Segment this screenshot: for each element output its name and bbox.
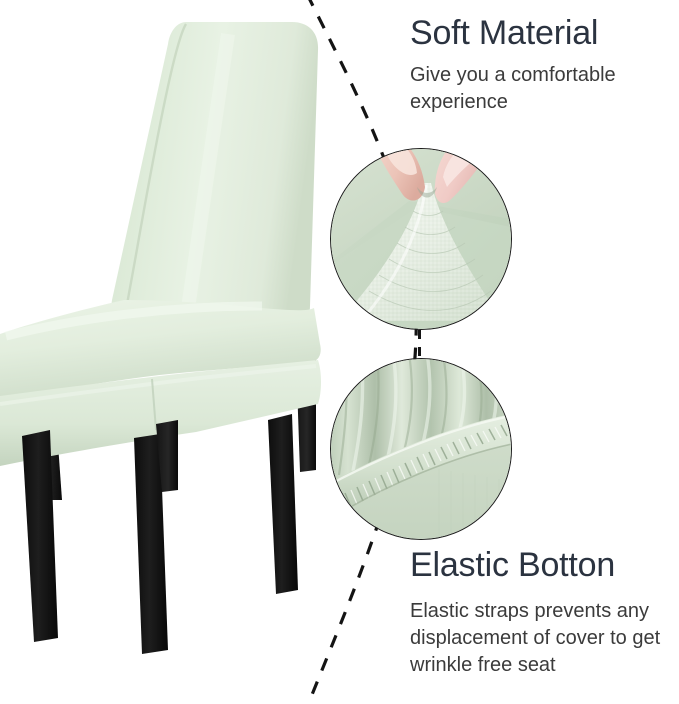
feature-body-soft-material: Give you a comfortable experience — [410, 62, 678, 116]
feature-body-elastic-bottom: Elastic straps prevents any displacement… — [410, 598, 678, 680]
product-infographic: Soft Material Give you a comfortable exp… — [0, 0, 679, 704]
chair-image — [0, 0, 340, 660]
feature-heading-soft-material: Soft Material — [410, 14, 678, 52]
feature-text-soft-material: Soft Material Give you a comfortable exp… — [410, 14, 678, 116]
feature-text-elastic-bottom: Elastic Botton Elastic straps prevents a… — [410, 546, 678, 680]
elastic-hem-closeup-image — [331, 359, 511, 539]
fabric-pinch-closeup-image — [331, 149, 511, 329]
detail-circle-elastic-bottom — [330, 358, 512, 540]
dashed-connector-line — [418, 330, 421, 356]
feature-heading-elastic-bottom: Elastic Botton — [410, 546, 678, 584]
detail-circle-soft-material — [330, 148, 512, 330]
